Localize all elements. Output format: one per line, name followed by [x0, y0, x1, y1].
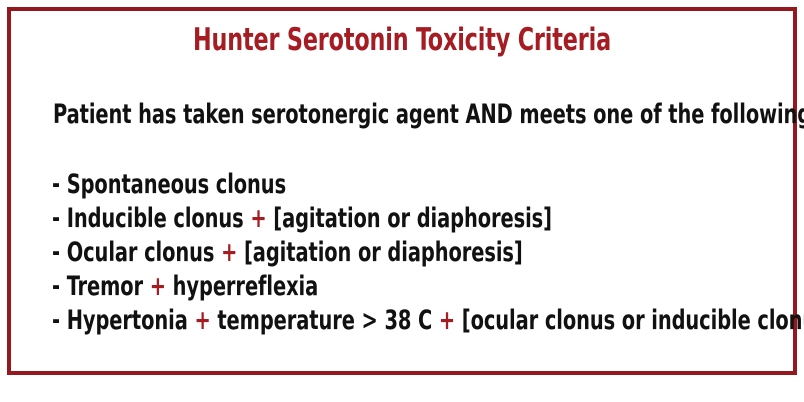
- criteria-text: Ocular clonus: [67, 237, 215, 268]
- criteria-item: - Tremor + hyperreflexia: [52, 270, 804, 304]
- criteria-bullet-marker: -: [52, 237, 60, 268]
- card-content: Hunter Serotonin Toxicity Criteria Patie…: [0, 0, 804, 402]
- criteria-bullet-marker: -: [52, 169, 60, 200]
- criteria-text: Inducible clonus: [67, 203, 244, 234]
- criteria-item: - Inducible clonus + [agitation or diaph…: [52, 202, 804, 236]
- criteria-text: Spontaneous clonus: [67, 169, 286, 200]
- criteria-text: [agitation or diaphoresis]: [244, 237, 523, 268]
- criteria-list: - Spontaneous clonus- Inducible clonus +…: [52, 168, 804, 338]
- criteria-bullet-marker: -: [52, 203, 60, 234]
- criteria-text: Hypertonia: [67, 305, 188, 336]
- criteria-text: [ocular clonus or inducible clonus]: [462, 305, 804, 336]
- plus-operator: +: [150, 271, 166, 302]
- plus-operator: +: [439, 305, 455, 336]
- plus-operator: +: [194, 305, 210, 336]
- criteria-text: hyperreflexia: [173, 271, 319, 302]
- criteria-item: - Ocular clonus + [agitation or diaphore…: [52, 236, 804, 270]
- criteria-bullet-marker: -: [52, 305, 60, 336]
- criteria-bullet-marker: -: [52, 271, 60, 302]
- intro-statement: Patient has taken serotonergic agent AND…: [53, 99, 804, 130]
- criteria-text: Tremor: [67, 271, 143, 302]
- plus-operator: +: [221, 237, 237, 268]
- criteria-text: temperature > 38 C: [217, 305, 432, 336]
- criteria-item: - Hypertonia + temperature > 38 C + [ocu…: [52, 304, 804, 338]
- page-title: Hunter Serotonin Toxicity Criteria: [80, 22, 723, 58]
- serotonin-toxicity-criteria-card: Hunter Serotonin Toxicity Criteria Patie…: [0, 0, 804, 402]
- criteria-item: - Spontaneous clonus: [52, 168, 804, 202]
- criteria-text: [agitation or diaphoresis]: [273, 203, 552, 234]
- plus-operator: +: [250, 203, 266, 234]
